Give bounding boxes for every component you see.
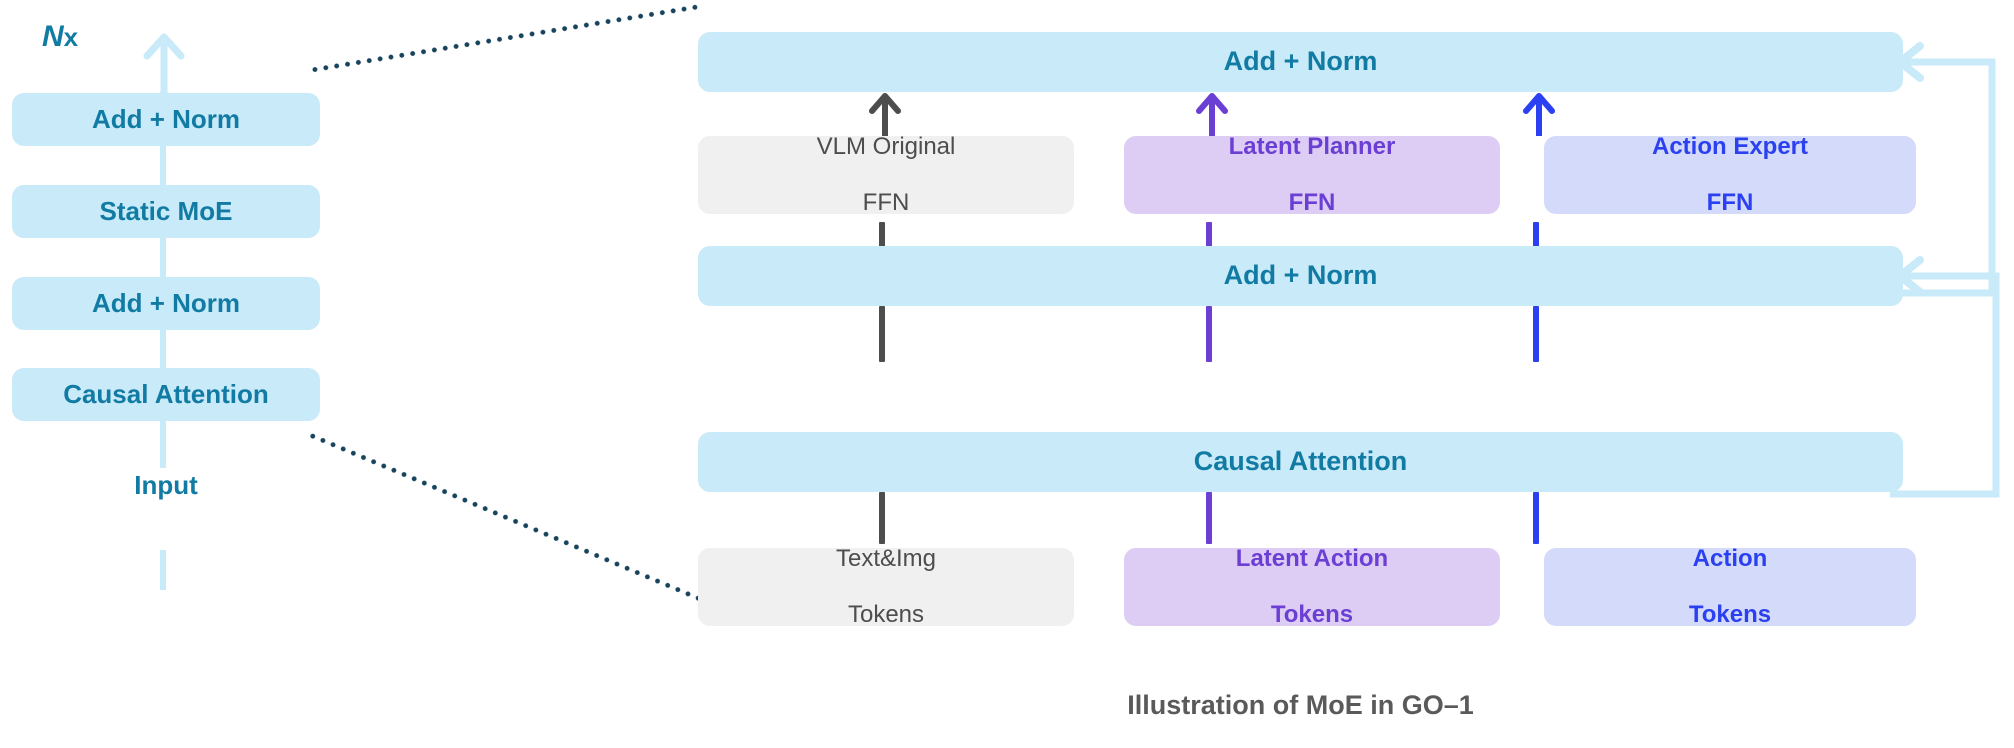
token-line-1: Text&Img (836, 545, 936, 573)
right-bar-label: Causal Attention (1194, 446, 1408, 478)
repeat-count-label: Nx (42, 20, 78, 54)
left-block-label: Static MoE (100, 196, 233, 227)
expert-line-2: FFN (817, 189, 956, 217)
left-block-static-moe[interactable]: Static MoE (12, 185, 320, 238)
left-block-add-norm-bottom[interactable]: Add + Norm (12, 277, 320, 330)
left-spine-segment-5 (160, 416, 166, 468)
arrow-latent-planner-ffn-to-add-norm-icon (1193, 92, 1231, 136)
expert-box-action-expert-ffn[interactable]: Action Expert FFN (1544, 136, 1916, 214)
token-line-2: Tokens (836, 601, 936, 629)
left-block-add-norm-top[interactable]: Add + Norm (12, 93, 320, 146)
right-bar-label: Add + Norm (1224, 260, 1378, 292)
expert-box-vlm-original-ffn[interactable]: VLM Original FFN (698, 136, 1074, 214)
expert-line-1: VLM Original (817, 133, 956, 161)
left-block-label: Add + Norm (92, 288, 240, 319)
right-bar-label: Add + Norm (1224, 46, 1378, 78)
residual-connection-lower (1880, 254, 2014, 504)
token-box-latent-action-tokens[interactable]: Latent Action Tokens (1124, 548, 1500, 626)
connector-action-tokens-to-causal-attention (1533, 492, 1539, 544)
right-bar-add-norm-top[interactable]: Add + Norm (698, 32, 1903, 92)
token-box-action-tokens[interactable]: Action Tokens (1544, 548, 1916, 626)
connector-causal-attention-to-add-norm-indigo (1533, 306, 1539, 362)
connector-causal-attention-to-add-norm-grey (879, 306, 885, 362)
connector-causal-attention-to-add-norm-purple (1206, 306, 1212, 362)
left-block-causal-attention[interactable]: Causal Attention (12, 368, 320, 421)
expert-line-1: Action Expert (1652, 133, 1808, 161)
token-line-2: Tokens (1236, 601, 1388, 629)
figure-caption: Illustration of MoE in GO–1 (698, 690, 1903, 721)
token-box-text-img-tokens[interactable]: Text&Img Tokens (698, 548, 1074, 626)
right-bar-causal-attention[interactable]: Causal Attention (698, 432, 1903, 492)
leader-line-top (312, 3, 704, 73)
left-block-label: Add + Norm (92, 104, 240, 135)
connector-latent-action-tokens-to-causal-attention (1206, 492, 1212, 544)
repeat-count-x: x (64, 22, 78, 52)
left-spine-segment-6 (160, 550, 166, 590)
expert-line-1: Latent Planner (1229, 133, 1396, 161)
right-bar-add-norm-mid[interactable]: Add + Norm (698, 246, 1903, 306)
token-line-1: Action (1689, 545, 1771, 573)
arrow-action-expert-ffn-to-add-norm-icon (1520, 92, 1558, 136)
expert-box-latent-planner-ffn[interactable]: Latent Planner FFN (1124, 136, 1500, 214)
figure-canvas: Nx Add + Norm Static MoE Add + Norm Caus… (0, 0, 2014, 748)
token-line-2: Tokens (1689, 601, 1771, 629)
left-input-label: Input (12, 470, 320, 501)
token-line-1: Latent Action (1236, 545, 1388, 573)
expert-line-2: FFN (1652, 189, 1808, 217)
left-block-label: Causal Attention (63, 379, 269, 410)
leader-line-bottom (309, 432, 702, 602)
repeat-count-n: N (42, 20, 64, 53)
expert-line-2: FFN (1229, 189, 1396, 217)
